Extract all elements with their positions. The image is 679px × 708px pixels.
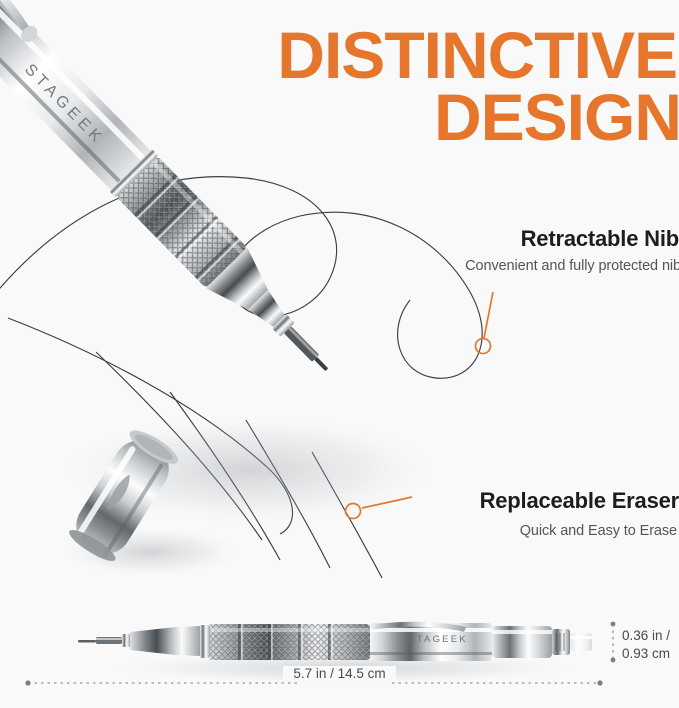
dimension-length-value: 5.7 in / 14.5 cm [283, 666, 395, 681]
callout-nib-title: Retractable Nib [465, 226, 679, 252]
dimension-diameter-line-1: 0.36 in / [622, 627, 670, 645]
dimension-diameter-line-2: 0.93 cm [622, 645, 670, 663]
dimension-diameter [611, 622, 616, 663]
callout-eraser-title: Replaceable Eraser [480, 488, 679, 514]
bottom-knurled-grip [210, 624, 370, 660]
bottom-pencil-horizontal: STAGEEK 0.7 [78, 622, 592, 661]
headline-line-2: DESIGN [277, 86, 679, 148]
bottom-barrel-engraving: STAGEEK [408, 634, 468, 645]
retractable-nib [284, 326, 319, 362]
dimension-length-label: 5.7 in / 14.5 cm [0, 666, 679, 681]
bottom-push-cap [570, 633, 592, 651]
callout-retractable-nib: Retractable Nib Convenient and fully pro… [465, 226, 679, 274]
page-title: DISTINCTIVE DESIGN [277, 24, 677, 148]
callout-replaceable-eraser: Replaceable Eraser Quick and Easy to Era… [480, 488, 679, 539]
dimension-diameter-label: 0.36 in / 0.93 cm [622, 627, 670, 663]
product-marketing-image: STAGEEK [0, 0, 679, 708]
callout-eraser-subtitle: Quick and Easy to Erase [480, 523, 677, 539]
nib-circle-marker [476, 339, 491, 354]
nib-leader-line [476, 292, 494, 354]
callout-nib-subtitle: Convenient and fully protected nib [465, 258, 679, 274]
